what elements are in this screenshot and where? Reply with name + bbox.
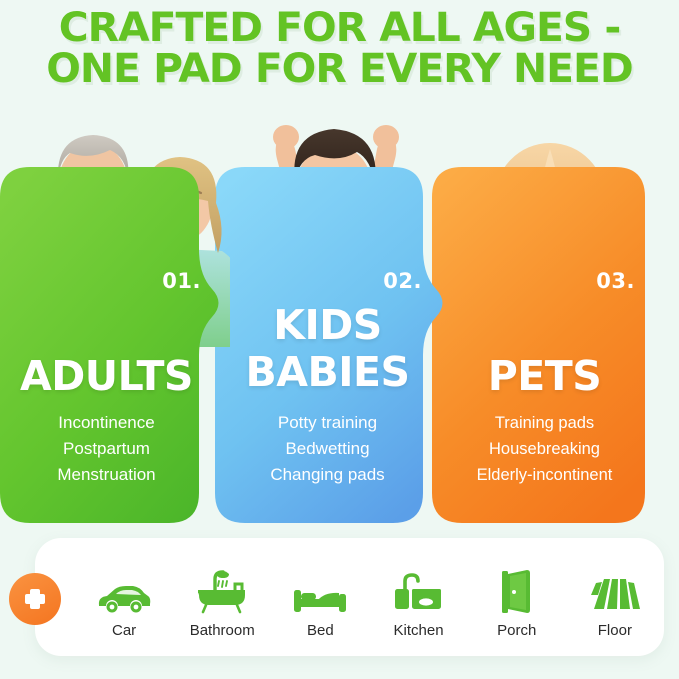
- audience-card-pets[interactable]: 03. PETS Training pads Housebreaking Eld…: [432, 97, 668, 527]
- location-item-bed[interactable]: Bed: [274, 555, 366, 639]
- adults-card-shape: [0, 97, 230, 527]
- audience-card-row: 01. ADULTS Incontinence Postpartum Menst…: [0, 97, 679, 527]
- bed-icon: [291, 565, 349, 615]
- kitchen-sink-icon: [390, 565, 448, 615]
- add-plus-button[interactable]: [9, 573, 61, 625]
- car-icon: [95, 565, 153, 615]
- use-locations-list: Car Bathroom: [75, 538, 664, 656]
- location-label-bed: Bed: [307, 622, 334, 639]
- door-icon: [494, 565, 540, 615]
- location-item-floor[interactable]: Floor: [569, 555, 661, 639]
- audience-card-kids-babies[interactable]: 02. KIDS BABIES Potty training Bedwettin…: [215, 97, 451, 527]
- pets-card-shape: [432, 97, 668, 527]
- location-label-kitchen: Kitchen: [394, 622, 444, 639]
- location-label-car: Car: [112, 622, 136, 639]
- location-label-bathroom: Bathroom: [190, 622, 255, 639]
- bathtub-shower-icon: [193, 565, 251, 615]
- location-label-porch: Porch: [497, 622, 536, 639]
- kids-babies-card-shape: [215, 97, 451, 527]
- floor-planks-icon: [587, 565, 643, 615]
- location-item-bathroom[interactable]: Bathroom: [176, 555, 268, 639]
- page-title: CRAFTED FOR ALL AGES - ONE PAD FOR EVERY…: [0, 8, 679, 90]
- page-title-line-1: CRAFTED FOR ALL AGES -: [0, 8, 679, 49]
- location-item-kitchen[interactable]: Kitchen: [373, 555, 465, 639]
- page-title-line-2: ONE PAD FOR EVERY NEED: [0, 49, 679, 90]
- audience-card-adults[interactable]: 01. ADULTS Incontinence Postpartum Menst…: [0, 97, 230, 527]
- location-label-floor: Floor: [598, 622, 632, 639]
- plus-icon: [21, 585, 49, 613]
- location-item-porch[interactable]: Porch: [471, 555, 563, 639]
- location-item-car[interactable]: Car: [78, 555, 170, 639]
